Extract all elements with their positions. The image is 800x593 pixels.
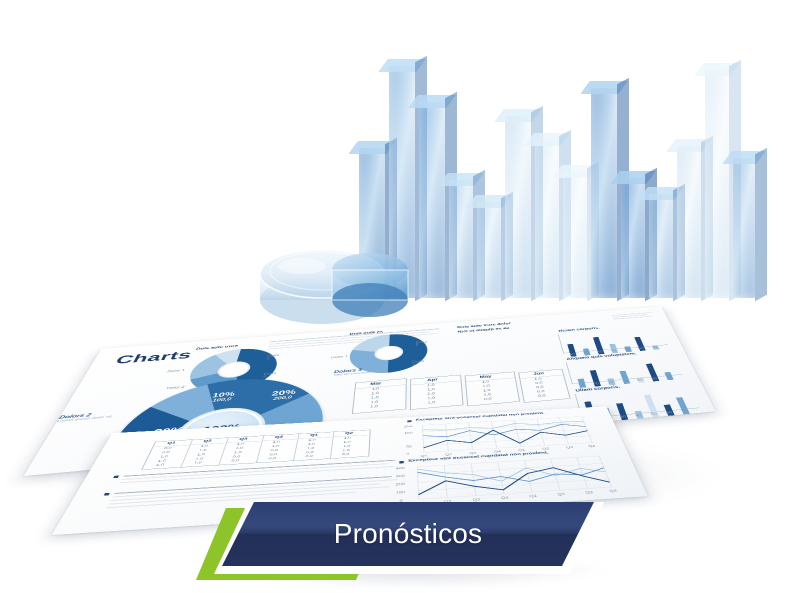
table-cell: 0,0: [538, 394, 546, 398]
svg-text:150: 150: [404, 432, 413, 435]
svg-text:0: 0: [406, 452, 409, 455]
table-cell: 0,0: [163, 447, 172, 450]
table-cell: 0,0: [231, 459, 239, 462]
table-month-col: Mar 1,0 1,0 1,0 1,0 1,0: [352, 378, 407, 414]
table-header-cell: Q4: [274, 436, 283, 439]
legend-marker: [407, 420, 411, 422]
bullet-icon: [113, 476, 119, 479]
table-cell: 1,0: [371, 392, 379, 396]
x-tick: 10: [578, 384, 585, 387]
slice-label: Dolor 1: [167, 369, 186, 373]
table-cell: 1,0: [343, 441, 350, 444]
table-cell: 1,0: [272, 441, 280, 444]
glass-bar: [591, 88, 617, 298]
table-cell: 0,0: [484, 398, 492, 402]
x-tick: 30: [607, 381, 614, 384]
svg-text:Q4: Q4: [609, 489, 618, 493]
donut-callout-dolors-2: Dolors 2 Lorem ipsum dolor sit: [56, 409, 130, 423]
table-cell: 1,0: [482, 381, 490, 384]
table-header-cell: Q1: [310, 434, 318, 437]
x-tick: 30: [619, 415, 626, 419]
x-tick: 20: [593, 382, 600, 385]
bullet-icon: [104, 493, 110, 496]
table-month-col: Apr 1,0 1,0 1,0 1,0 1,0: [410, 375, 464, 410]
slice-label: Dolor 2: [416, 341, 428, 347]
table-cell: 0,0: [342, 453, 350, 456]
table-cell: 1,0: [159, 455, 168, 458]
x-tick: 50: [650, 413, 657, 417]
table-cell: 1,0: [234, 451, 242, 454]
table-cell: 1,0: [193, 462, 202, 465]
table-month-col: May 1,0 1,0 1,0 1,0 0,0: [465, 372, 520, 407]
svg-text:Q3: Q3: [566, 446, 574, 450]
table-cell: 1,0: [343, 445, 351, 448]
table-cell: 1,0: [157, 460, 166, 463]
x-tick: 50: [624, 348, 630, 351]
table-cell: 1,0: [427, 388, 435, 391]
side-note-block: [611, 312, 653, 315]
x-tick: 10: [569, 353, 575, 356]
chart-mini-bars-2: Aliquam quis voluptatem. 10 20 30 40 50 …: [561, 353, 688, 389]
table-cell: 1,0: [236, 443, 244, 446]
glass-pie-svg: [258, 222, 418, 337]
table-cell: 1,0: [197, 453, 206, 456]
svg-text:50: 50: [406, 445, 412, 448]
x-tick: 30: [597, 351, 603, 354]
table-cell: 1,0: [235, 447, 243, 450]
glass-bar: [449, 180, 473, 298]
x-tick: 70: [681, 410, 688, 414]
table-cell: 1,0: [427, 392, 435, 396]
table-cell: 1,0: [483, 393, 491, 397]
page-title: Charts: [113, 348, 195, 367]
table-month-col: Jun 1,0 0,0 0,0 0,0 0,0: [518, 369, 570, 403]
table-cell: 1,0: [482, 385, 490, 388]
chart-mini-bars-1-title: Nisam corporis.: [558, 327, 600, 333]
table-cell: 1,0: [427, 401, 435, 405]
banner-title: Pronósticos: [222, 502, 594, 566]
table-header-cell: Q3: [239, 438, 248, 441]
table-cell: 0,0: [270, 449, 278, 452]
table-cell: 0,0: [268, 457, 276, 460]
x-tick: 70: [665, 376, 672, 379]
table-cell: 0,0: [536, 386, 544, 389]
table-cell: 1,0: [371, 396, 379, 400]
table-header-cell: Q2: [203, 440, 212, 443]
glass-bar: [535, 140, 559, 298]
table-cell: 0,0: [161, 451, 170, 454]
table-cell: 1,0: [308, 439, 316, 442]
table-cell: 1,0: [342, 449, 350, 452]
svg-text:250: 250: [404, 425, 413, 428]
glass-bar: [649, 194, 673, 298]
svg-text:200: 200: [396, 482, 406, 486]
table-cell: 0,0: [306, 451, 314, 454]
table-cell: 0,0: [305, 455, 313, 458]
table-header-cell: Jun: [533, 372, 544, 376]
table-cell: 1,0: [195, 458, 204, 461]
table-cell: 1,0: [307, 447, 315, 450]
table-cell: 0,0: [232, 455, 240, 458]
table-header-cell: May: [479, 375, 491, 379]
svg-text:300: 300: [396, 474, 406, 478]
title-banner[interactable]: Pronósticos: [196, 494, 616, 590]
table-cell: 1,0: [198, 449, 206, 452]
table-cell: 1,0: [371, 388, 379, 391]
table-cell: 1,0: [307, 443, 315, 446]
table-header-cell: Apr: [427, 378, 438, 382]
x-tick: 40: [611, 350, 617, 353]
svg-text:400: 400: [396, 467, 405, 471]
table-cell: 1,0: [427, 384, 434, 387]
table-header-cell: Q1: [167, 442, 177, 445]
x-tick: 70: [652, 346, 658, 349]
slice-label: Dolor 1: [331, 355, 348, 359]
glass-bar: [733, 158, 755, 298]
glass-bar: [677, 146, 701, 298]
glass-3d-pie-chart: [258, 222, 418, 337]
x-tick: 40: [635, 414, 642, 418]
x-tick: 20: [583, 352, 589, 355]
table-cell: 1,0: [370, 405, 378, 409]
slice-label: Dolor 3: [412, 360, 427, 366]
infographic-scene: Charts Duis aute irure dolor Nisi ut ali…: [0, 0, 800, 593]
glass-bar: [563, 172, 587, 298]
x-tick: 50: [637, 379, 644, 382]
table-cell: 1,0: [155, 464, 164, 467]
table-cell: 1,0: [427, 397, 435, 401]
table-cell: 1,0: [200, 445, 208, 448]
table-header-cell: Q2: [345, 432, 353, 435]
slice-label: Dolor 3: [266, 354, 280, 360]
legend-marker: [399, 461, 403, 463]
svg-text:Q4: Q4: [588, 445, 596, 449]
table-cell: 1,0: [271, 445, 279, 448]
glass-bar: [477, 202, 501, 298]
glass-bar: [419, 102, 445, 298]
table-cell: 1,0: [534, 377, 542, 380]
table-cell: 1,0: [344, 437, 351, 440]
banner-navy-plate: Pronósticos: [222, 502, 594, 566]
donut-callout-dolors-3: Dolors 3 Sed do eiusmod tempor: [333, 365, 395, 377]
x-tick: 60: [651, 377, 658, 380]
chart-mini-bars-1: Nisam corporis. 10 20 30 40 50 60 70: [553, 326, 673, 358]
x-tick: 60: [666, 411, 673, 415]
table-cell: 1,0: [370, 401, 378, 405]
table-cell: 0,0: [537, 390, 545, 394]
x-tick: 40: [622, 380, 629, 383]
table-cell: 0,0: [535, 382, 543, 385]
x-tick: 60: [638, 347, 644, 350]
table-cell: 0,0: [269, 453, 277, 456]
glass-bar: [705, 70, 729, 298]
table-cell: 1,0: [483, 389, 491, 393]
table-header-cell: Mar: [370, 382, 381, 386]
